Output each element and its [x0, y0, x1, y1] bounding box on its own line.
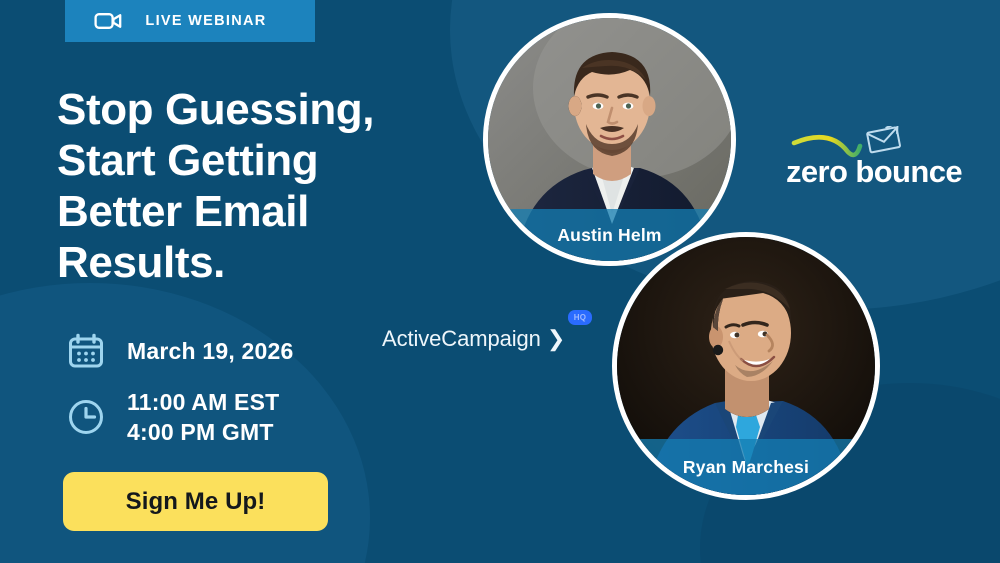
live-webinar-badge: LIVE WEBINAR	[65, 0, 315, 42]
schedule-row-time: 11:00 AM EST 4:00 PM GMT	[63, 387, 293, 447]
page-title: Stop Guessing, Start Getting Better Emai…	[57, 84, 477, 288]
envelope-icon	[866, 126, 902, 153]
live-webinar-label: LIVE WEBINAR	[123, 13, 315, 29]
speaker-card-ryan-marchesi: Ryan Marchesi	[612, 232, 880, 500]
speaker-card-austin-helm: Austin Helm	[483, 13, 736, 266]
webinar-time-gmt: 4:00 PM GMT	[127, 419, 274, 445]
headline-line-1: Stop Guessing,	[57, 84, 477, 135]
swoosh-checkmark-icon	[794, 137, 860, 155]
clock-icon	[63, 394, 109, 440]
zerobounce-logo: zero bounce	[786, 126, 951, 190]
schedule-row-date: March 19, 2026	[63, 328, 293, 374]
speaker-name-band: Austin Helm	[488, 209, 731, 261]
webinar-date: March 19, 2026	[127, 336, 293, 366]
headline-line-2: Start Getting	[57, 135, 477, 186]
activecampaign-word-text: ActiveCampaign	[382, 326, 541, 351]
video-camera-icon	[93, 10, 123, 32]
speaker-name-band: Ryan Marchesi	[617, 439, 875, 495]
calendar-icon	[63, 328, 109, 374]
headline-line-3: Better Email	[57, 186, 477, 237]
speaker-name-austin-helm: Austin Helm	[557, 225, 661, 246]
sign-me-up-button[interactable]: Sign Me Up!	[63, 472, 328, 531]
activecampaign-hq-badge: HQ	[568, 310, 592, 325]
zerobounce-wordmark: zero bounce	[786, 154, 962, 190]
headline-line-4: Results.	[57, 237, 477, 288]
speaker-name-ryan-marchesi: Ryan Marchesi	[683, 457, 809, 478]
chevron-right-icon: ❯	[547, 326, 565, 351]
promo-left-column: LIVE WEBINAR Stop Guessing, Start Gettin…	[57, 0, 487, 563]
webinar-promo-banner: LIVE WEBINAR Stop Guessing, Start Gettin…	[0, 0, 1000, 563]
activecampaign-logo: ActiveCampaign ❯ HQ	[382, 326, 565, 356]
webinar-schedule: March 19, 2026 11:00 AM EST 4:00 PM GMT	[63, 328, 293, 447]
activecampaign-wordmark: ActiveCampaign ❯	[382, 326, 565, 351]
webinar-time-est: 11:00 AM EST	[127, 389, 279, 415]
webinar-times: 11:00 AM EST 4:00 PM GMT	[127, 387, 279, 447]
